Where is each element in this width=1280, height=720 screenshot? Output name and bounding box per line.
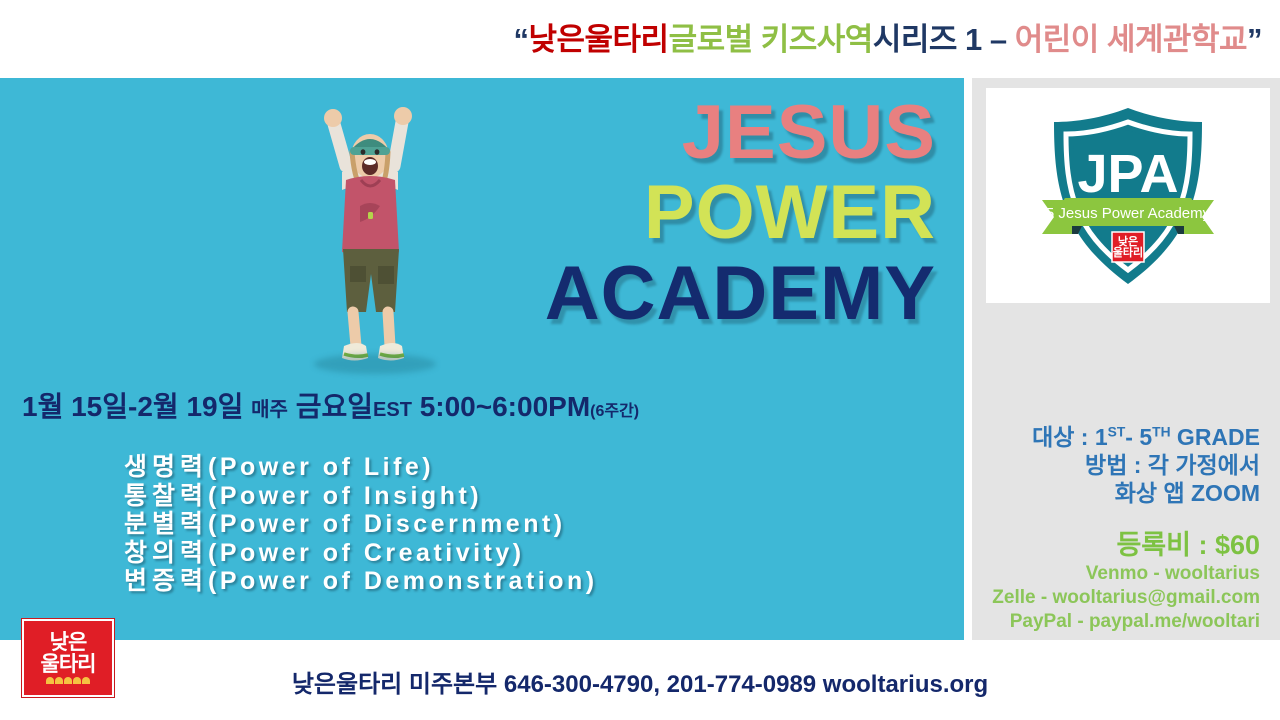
jpa-logo-box: JPA 5 Jesus Power Academy 낮은 울타리 xyxy=(986,88,1270,303)
audience-tail: GRADE xyxy=(1171,424,1260,450)
title-academy: ACADEMY xyxy=(545,257,936,331)
title-jesus: JESUS xyxy=(545,96,936,170)
cheering-boy-illustration xyxy=(298,94,448,376)
header-program: 글로벌 키즈사역 xyxy=(669,22,873,57)
schedule-time: 5:00~6:00PM xyxy=(420,391,590,422)
corner-logo-line2: 울타리 xyxy=(41,654,96,675)
power-label-en: (Power of Life) xyxy=(208,453,434,481)
schedule-line: 1월 15일-2월 19일 매주 금요일EST 5:00~6:00PM(6주간) xyxy=(22,393,639,421)
schedule-day: 금요일 xyxy=(296,391,373,422)
badge-ribbon-text: 5 Jesus Power Academy xyxy=(1046,205,1211,222)
powers-list: 생명력(Power of Life) 통찰력(Power of Insight)… xyxy=(124,453,598,596)
header-band: “낮은울타리글로벌 키즈사역시리즈 1 – 어린이 세계관학교” xyxy=(0,0,1280,78)
power-item: 통찰력(Power of Insight) xyxy=(124,482,598,511)
footer-band: 낮은울타리 미주본부 646-300-4790, 201-774-0989 wo… xyxy=(0,640,1280,720)
header-series: 시리즈 1 – xyxy=(873,22,1015,57)
page-title: “낮은울타리글로벌 키즈사역시리즈 1 – 어린이 세계관학교” xyxy=(513,24,1262,55)
payment-venmo: Venmo - wooltarius xyxy=(978,562,1260,586)
header-subject: 어린이 세계관학교 xyxy=(1015,22,1247,57)
audience-label: 대상 : 1 xyxy=(1032,424,1108,450)
footer-contact-text: 낮은울타리 미주본부 646-300-4790, 201-774-0989 wo… xyxy=(0,664,1280,699)
registration-fee: 등록비 : $60 xyxy=(978,523,1260,562)
power-label-en: (Power of Creativity) xyxy=(208,539,525,567)
power-label-ko: 통찰력 xyxy=(124,482,208,510)
payment-zelle: Zelle - wooltarius@gmail.com xyxy=(978,586,1260,610)
audience-sup-first: ST xyxy=(1108,424,1126,439)
power-label-ko: 창의력 xyxy=(124,539,208,567)
close-quote: ” xyxy=(1247,22,1262,57)
info-sidebar: JPA 5 Jesus Power Academy 낮은 울타리 대상 : 1S… xyxy=(972,78,1280,640)
fence-icon xyxy=(46,677,90,684)
wooltari-corner-logo: 낮은 울타리 xyxy=(22,619,114,697)
poster-title-stack: JESUS POWER ACADEMY xyxy=(545,96,936,331)
power-label-en: (Power of Demonstration) xyxy=(208,567,598,595)
audience-mid: - 5 xyxy=(1125,424,1152,450)
badge-initials: JPA xyxy=(1077,144,1178,204)
title-power: POWER xyxy=(545,176,936,250)
boy-figure-icon xyxy=(298,94,448,376)
power-item: 분별력(Power of Discernment) xyxy=(124,510,598,539)
corner-logo-line1: 낮은 xyxy=(50,632,87,653)
power-label-en: (Power of Discernment) xyxy=(208,510,566,538)
power-item: 생명력(Power of Life) xyxy=(124,453,598,482)
badge-stamp-line2: 울타리 xyxy=(1113,245,1143,259)
header-brand: 낮은울타리 xyxy=(528,22,668,57)
badge-stamp-line1: 낮은 xyxy=(1118,234,1138,248)
payment-paypal: PayPal - paypal.me/wooltari xyxy=(978,610,1260,634)
open-quote: “ xyxy=(513,22,528,57)
method-line-2: 화상 앱 ZOOM xyxy=(978,479,1260,507)
main-poster-panel: JESUS POWER ACADEMY 1월 15일-2월 19일 매주 금요일… xyxy=(0,78,964,640)
boy-ground-shadow xyxy=(314,354,436,374)
power-item: 변증력(Power of Demonstration) xyxy=(124,567,598,596)
schedule-weekly: 매주 xyxy=(251,399,288,421)
audience-sup-fifth: TH xyxy=(1152,424,1170,439)
schedule-date-range: 1월 15일-2월 19일 xyxy=(22,391,243,422)
power-label-ko: 변증력 xyxy=(124,567,208,595)
power-label-ko: 분별력 xyxy=(124,510,208,538)
power-item: 창의력(Power of Creativity) xyxy=(124,539,598,568)
sidebar-info-block: 대상 : 1ST- 5TH GRADE 방법 : 각 가정에서 화상 앱 ZOO… xyxy=(978,423,1274,634)
power-label-en: (Power of Insight) xyxy=(208,482,482,510)
power-label-ko: 생명력 xyxy=(124,453,208,481)
jpa-shield-badge-icon: JPA 5 Jesus Power Academy 낮은 울타리 xyxy=(1028,102,1228,290)
audience-line: 대상 : 1ST- 5TH GRADE xyxy=(978,423,1260,451)
schedule-timezone: EST xyxy=(373,399,412,421)
schedule-duration: (6주간) xyxy=(590,403,639,420)
method-line-1: 방법 : 각 가정에서 xyxy=(978,451,1260,479)
